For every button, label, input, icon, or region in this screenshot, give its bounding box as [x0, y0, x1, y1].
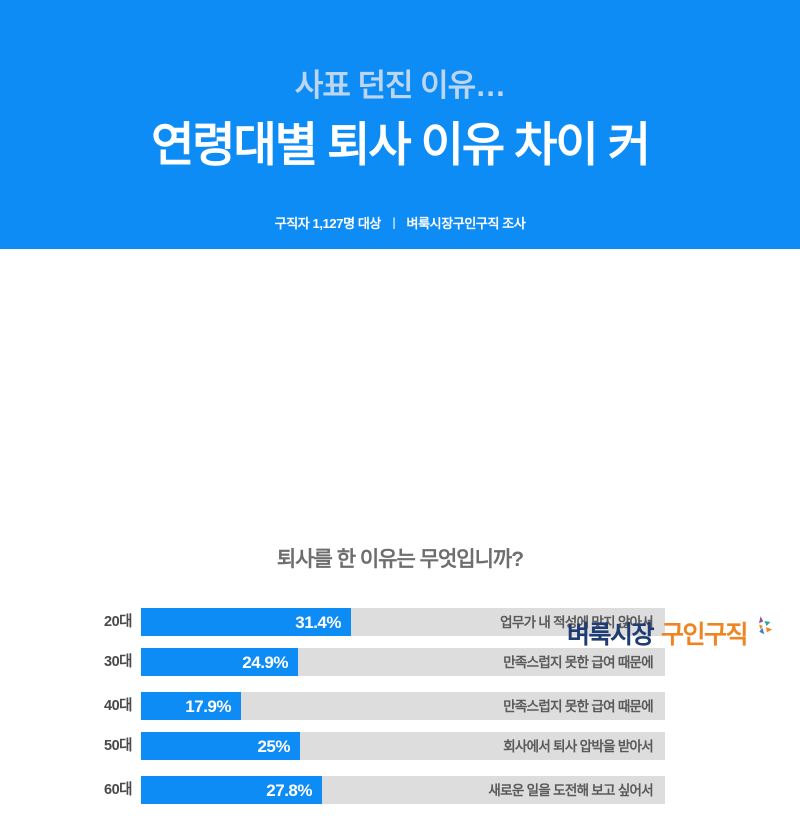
chart-title: 퇴사를 한 이유는 무엇입니까? — [0, 549, 800, 570]
bar-fill: 25% — [141, 732, 300, 760]
header-banner: 사표 던진 이유… 연령대별 퇴사 이유 차이 커 구직자 1,127명 대상ㅣ… — [0, 0, 800, 249]
bar-value-label: 27.8% — [266, 776, 312, 804]
table-row: 50대 25% 회사에서 퇴사 압박을 받아서 — [0, 732, 800, 760]
logo-brand-text: 벼룩시장 — [567, 623, 653, 648]
footer: 벼룩시장 구인구직 — [0, 590, 800, 670]
survey-sample-size: 구직자 1,127명 대상 — [275, 216, 381, 231]
logo-service-text: 구인구직 — [661, 623, 747, 648]
row-reason-label: 회사에서 퇴사 압박을 받아서 — [503, 732, 665, 760]
subtitle-separator: ㅣ — [381, 216, 407, 231]
row-reason-label: 새로운 일을 도전해 보고 싶어서 — [488, 776, 665, 804]
page-title: 연령대별 퇴사 이유 차이 커 — [0, 118, 800, 172]
bar-fill: 27.8% — [141, 776, 322, 804]
bar-track: 17.9% 만족스럽지 못한 급여 때문에 — [141, 692, 665, 720]
bar-track: 27.8% 새로운 일을 도전해 보고 싶어서 — [141, 776, 665, 804]
bar-fill: 17.9% — [141, 692, 241, 720]
row-category-label: 40대 — [88, 692, 132, 720]
table-row: 40대 17.9% 만족스럽지 못한 급여 때문에 — [0, 692, 800, 720]
row-reason-label: 만족스럽지 못한 급여 때문에 — [503, 692, 665, 720]
row-category-label: 60대 — [88, 776, 132, 804]
pinwheel-icon — [748, 615, 774, 645]
row-category-label: 50대 — [88, 732, 132, 760]
header-eyebrow: 사표 던진 이유… — [0, 70, 800, 101]
survey-source: 벼룩시장구인구직 조사 — [407, 216, 526, 231]
header-subtitle: 구직자 1,127명 대상ㅣ벼룩시장구인구직 조사 — [0, 217, 800, 230]
bar-track: 25% 회사에서 퇴사 압박을 받아서 — [141, 732, 665, 760]
table-row: 60대 27.8% 새로운 일을 도전해 보고 싶어서 — [0, 776, 800, 804]
bar-value-label: 17.9% — [185, 692, 231, 720]
brand-logo[interactable]: 벼룩시장 구인구직 — [567, 623, 774, 648]
bar-value-label: 25% — [257, 732, 290, 760]
